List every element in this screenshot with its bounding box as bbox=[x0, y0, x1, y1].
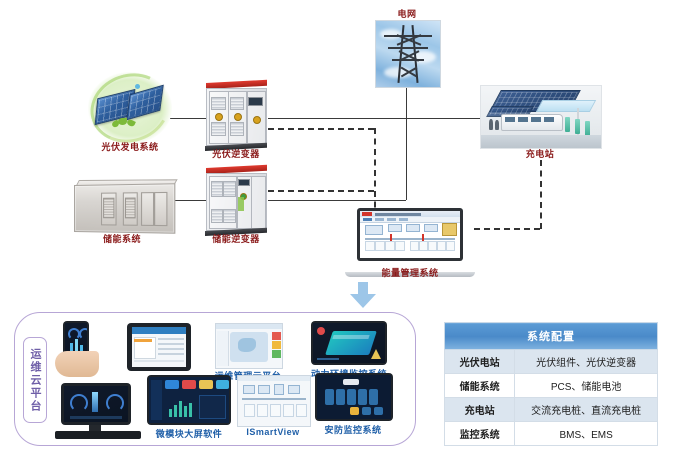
ems-device-row bbox=[385, 241, 395, 251]
pedestrian bbox=[495, 120, 499, 130]
sld-feeder bbox=[244, 404, 255, 417]
kpi-tile bbox=[182, 380, 196, 389]
config-key: 监控系统 bbox=[445, 422, 515, 446]
desktop-screen bbox=[64, 386, 128, 422]
cabinet-vent bbox=[230, 97, 245, 110]
bus-window bbox=[505, 117, 515, 122]
ems-tabbar bbox=[360, 217, 461, 223]
ems-device-row bbox=[395, 241, 405, 251]
tablet-row bbox=[158, 353, 184, 355]
diagram-canvas: 光伏发电系统 光伏逆变器 bbox=[0, 0, 680, 467]
power-env-monitor-device bbox=[311, 321, 387, 365]
pv-inverter-label: 光伏逆变器 bbox=[205, 147, 267, 160]
ems-busline bbox=[365, 238, 456, 240]
map-region bbox=[238, 338, 256, 352]
ems-device-row bbox=[437, 241, 446, 251]
charging-pile bbox=[575, 119, 580, 134]
cabinet-display bbox=[238, 179, 249, 187]
node-pv-inverter: 光伏逆变器 bbox=[205, 83, 267, 151]
config-value: BMS、EMS bbox=[515, 422, 658, 446]
ems-label: 能量管理系统 bbox=[345, 266, 475, 279]
line-storageinverter-to-bus bbox=[268, 200, 406, 201]
security-monitor-label: 安防监控系统 bbox=[307, 423, 399, 436]
ismartview-device bbox=[237, 375, 311, 427]
node-ems: 能量管理系统 bbox=[345, 208, 475, 278]
cabinet-indicator-strip bbox=[238, 197, 244, 212]
tablet-screen bbox=[132, 327, 186, 367]
system-config-table: 系统配置 光伏电站 光伏组件、光伏逆变器 储能系统 PCS、储能电池 充电站 交… bbox=[444, 322, 658, 446]
chart-bar bbox=[184, 406, 187, 417]
bus-window bbox=[544, 117, 554, 122]
ems-block bbox=[365, 225, 383, 235]
chart-bar bbox=[174, 405, 177, 417]
ops-cloud-platform-device bbox=[215, 323, 283, 369]
node-storage-inverter: 储能逆变器 bbox=[205, 168, 267, 236]
cabinet-vent bbox=[211, 209, 224, 223]
charging-station-icon bbox=[480, 85, 602, 149]
ismartview-header bbox=[238, 376, 310, 381]
bus-window bbox=[531, 117, 541, 122]
hand-shape bbox=[55, 351, 99, 377]
table-row: 储能系统 PCS、储能电池 bbox=[445, 374, 658, 398]
dashed-pvinverter-comm-drop bbox=[374, 128, 376, 218]
grid-label: 电网 bbox=[375, 7, 439, 20]
ems-device-row bbox=[419, 241, 428, 251]
tablet-row bbox=[134, 360, 184, 362]
dashed-charging-comm-drop bbox=[540, 160, 542, 229]
security-monitor-device bbox=[315, 373, 393, 421]
ems-device-row bbox=[410, 241, 419, 251]
config-table-header: 系统配置 bbox=[445, 323, 658, 350]
sld-block bbox=[258, 385, 270, 394]
sld-feeder bbox=[296, 404, 307, 417]
sld-feeder bbox=[270, 404, 281, 417]
storage-container-icon bbox=[74, 176, 170, 238]
dashboard-table bbox=[199, 395, 226, 419]
gauge-icon bbox=[70, 394, 88, 412]
charging-pile bbox=[585, 121, 590, 136]
ems-tab[interactable] bbox=[399, 218, 408, 221]
cabinet-body bbox=[206, 173, 267, 231]
kpi-tile bbox=[199, 380, 213, 389]
cabinet-vent bbox=[211, 97, 226, 110]
rack-tile bbox=[336, 389, 345, 405]
container-face bbox=[74, 183, 175, 234]
ems-logo bbox=[362, 212, 372, 216]
ems-title-text bbox=[375, 213, 421, 216]
cloud-platform-tag: 运维云平台 bbox=[23, 337, 47, 423]
pv-droplet-icon bbox=[135, 84, 140, 89]
pv-inverter-icon bbox=[205, 83, 267, 151]
ismartview-screen bbox=[238, 376, 310, 426]
cabinet-display bbox=[248, 97, 263, 106]
chart-bar bbox=[179, 401, 182, 417]
bus-window bbox=[518, 117, 528, 122]
env-row bbox=[317, 358, 339, 360]
alarm-dot bbox=[317, 327, 325, 335]
sld-feeder bbox=[283, 404, 294, 417]
config-value: 光伏组件、光伏逆变器 bbox=[515, 350, 658, 374]
dashboard-sidebar bbox=[151, 380, 162, 420]
cabinet-vent bbox=[211, 181, 224, 196]
rack-tile bbox=[325, 389, 334, 405]
tablet-device bbox=[127, 323, 191, 371]
line-bus-to-charging-station bbox=[406, 118, 480, 119]
pylon-crossarm bbox=[388, 47, 428, 49]
pv-leaf-icon bbox=[118, 118, 127, 125]
kpi-tile bbox=[165, 380, 179, 389]
ops-sidebar bbox=[217, 331, 229, 366]
container-vent bbox=[125, 197, 136, 218]
status-legend-amber bbox=[272, 341, 281, 349]
tablet-highlight bbox=[134, 339, 152, 342]
dashed-pvinverter-comm bbox=[268, 128, 374, 130]
gauge-icon bbox=[79, 328, 87, 340]
ems-block bbox=[406, 224, 420, 232]
line-grid-drop bbox=[406, 85, 407, 119]
rack-tile bbox=[343, 379, 359, 385]
table-row: 监控系统 BMS、EMS bbox=[445, 422, 658, 446]
node-grid: 电网 bbox=[375, 20, 439, 86]
ismartview-label: ISmartView bbox=[233, 427, 313, 437]
station-canopy bbox=[536, 100, 596, 112]
tablet-app-header bbox=[132, 327, 186, 334]
storage-system-label: 储能系统 bbox=[74, 232, 170, 245]
micro-module-screen-label: 微模块大屏软件 bbox=[143, 427, 235, 440]
tablet-row bbox=[158, 343, 184, 345]
node-charging-station: 充电站 bbox=[480, 85, 600, 147]
down-arrow-icon bbox=[348, 282, 378, 308]
storage-inverter-icon bbox=[205, 168, 267, 236]
power-grid-icon bbox=[375, 20, 441, 88]
ems-device-row bbox=[375, 241, 385, 251]
config-key: 储能系统 bbox=[445, 374, 515, 398]
cabinet-vent bbox=[223, 209, 236, 223]
sld-block bbox=[274, 384, 284, 395]
power-env-screen bbox=[313, 323, 385, 363]
micro-module-screen bbox=[149, 377, 229, 423]
sld-block bbox=[243, 385, 255, 394]
desktop-monitor-device bbox=[61, 383, 131, 425]
pv-system-icon bbox=[88, 72, 172, 144]
node-storage-system: 储能系统 bbox=[74, 176, 170, 238]
charging-station-label: 充电站 bbox=[480, 147, 600, 160]
rack-tile bbox=[358, 389, 367, 405]
line-pv-to-pvinverter bbox=[170, 118, 206, 119]
pedestrian bbox=[489, 119, 493, 130]
sld-block bbox=[288, 385, 300, 394]
dashed-ems-to-charging bbox=[474, 228, 540, 230]
ems-tab[interactable] bbox=[387, 218, 396, 221]
config-key: 充电站 bbox=[445, 398, 515, 422]
table-row: 充电站 交流充电桩、直流充电桩 bbox=[445, 398, 658, 422]
ems-tab[interactable] bbox=[375, 218, 384, 221]
ops-header bbox=[216, 324, 282, 329]
status-legend-red bbox=[272, 332, 281, 340]
ems-block bbox=[424, 224, 438, 232]
monitor-keyboard bbox=[55, 431, 141, 439]
level-bar bbox=[92, 392, 98, 412]
ems-device-row bbox=[365, 241, 375, 251]
table-row: 光伏电站 光伏组件、光伏逆变器 bbox=[445, 350, 658, 374]
cabinet-vent bbox=[211, 122, 226, 136]
container-door bbox=[154, 192, 168, 226]
chart-bar bbox=[169, 409, 172, 417]
sld-feeder bbox=[257, 404, 268, 417]
rack-tile bbox=[369, 389, 378, 405]
tablet-row bbox=[158, 348, 184, 350]
pv-system-label: 光伏发电系统 bbox=[88, 140, 172, 153]
config-value: PCS、储能电池 bbox=[515, 374, 658, 398]
laptop-bezel bbox=[357, 208, 464, 261]
chart-bar bbox=[189, 403, 192, 417]
cloud-platform-panel: 运维云平台 bbox=[14, 312, 416, 446]
sld-busline bbox=[242, 398, 306, 400]
cabinet-body bbox=[206, 88, 267, 146]
tablet-row bbox=[158, 338, 184, 340]
desktop-footer bbox=[70, 416, 122, 419]
cabinet-vent bbox=[223, 181, 236, 196]
status-legend-green bbox=[272, 350, 281, 358]
rack-tile bbox=[347, 389, 356, 405]
dashed-storageinverter-comm bbox=[268, 190, 374, 192]
rack-tile bbox=[374, 407, 383, 415]
container-vent bbox=[103, 197, 114, 218]
container-door bbox=[141, 192, 154, 226]
ems-device-row bbox=[428, 241, 437, 251]
cabinet-vent bbox=[230, 122, 245, 136]
ems-block bbox=[388, 224, 402, 232]
cabinet-door bbox=[251, 176, 267, 230]
config-value: 交流充电桩、直流充电桩 bbox=[515, 398, 658, 422]
ems-tab[interactable] bbox=[363, 218, 372, 221]
3d-room-top bbox=[332, 335, 369, 339]
rack-tile-alert bbox=[350, 407, 359, 415]
kpi-tile bbox=[216, 380, 229, 389]
micro-module-screen-device bbox=[147, 375, 231, 425]
security-screen bbox=[317, 375, 391, 419]
warning-icon bbox=[371, 349, 381, 359]
line-pvinverter-to-bus bbox=[268, 118, 406, 119]
rack-tile bbox=[362, 407, 371, 415]
config-key: 光伏电站 bbox=[445, 350, 515, 374]
charging-pile bbox=[565, 117, 570, 132]
gauge-icon bbox=[106, 394, 124, 412]
pylon-crossarm bbox=[384, 35, 432, 37]
ems-device-row bbox=[446, 241, 455, 251]
ops-cloud-screen bbox=[216, 324, 282, 368]
ems-screen bbox=[360, 211, 461, 258]
ems-block bbox=[442, 223, 457, 235]
storage-inverter-label: 储能逆变器 bbox=[205, 232, 267, 245]
node-pv-system: 光伏发电系统 bbox=[88, 72, 172, 144]
